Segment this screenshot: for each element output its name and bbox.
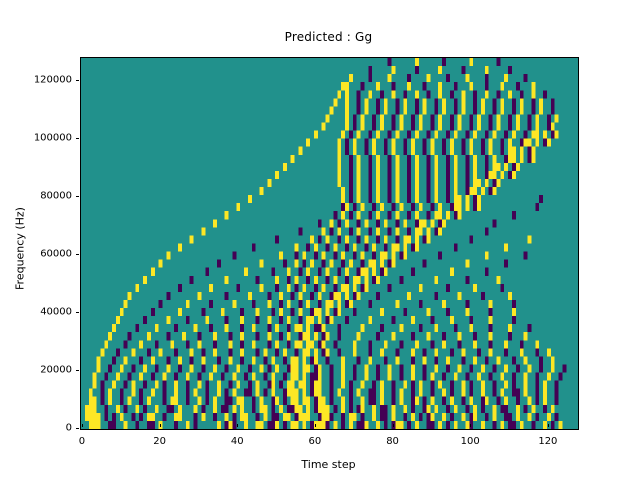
y-tick-label: 120000 (34, 75, 72, 86)
x-tick-label: 100 (461, 436, 480, 447)
x-tick-mark (393, 424, 394, 428)
y-tick-mark (76, 196, 80, 197)
y-tick-mark (76, 254, 80, 255)
y-tick-mark (76, 428, 80, 429)
x-tick-mark (82, 424, 83, 428)
y-tick-mark (76, 138, 80, 139)
x-tick-label: 20 (153, 436, 166, 447)
x-tick-mark (237, 424, 238, 428)
x-tick-mark (160, 424, 161, 428)
y-tick-label: 40000 (40, 307, 72, 318)
y-tick-label: 80000 (40, 191, 72, 202)
x-tick-label: 40 (231, 436, 244, 447)
x-tick-label: 120 (538, 436, 557, 447)
y-tick-mark (76, 312, 80, 313)
y-axis-label: Frequency (Hz) (14, 149, 27, 349)
figure-canvas: Predicted : Gg 0200004000060000800001000… (0, 0, 640, 480)
heatmap-image (81, 58, 578, 429)
x-tick-mark (315, 424, 316, 428)
x-tick-mark (548, 424, 549, 428)
x-tick-mark (470, 424, 471, 428)
x-axis-label: Time step (80, 458, 577, 471)
y-tick-label: 100000 (34, 133, 72, 144)
x-tick-label: 80 (386, 436, 399, 447)
y-tick-mark (76, 80, 80, 81)
y-tick-mark (76, 370, 80, 371)
x-tick-label: 0 (79, 436, 85, 447)
y-tick-label: 20000 (40, 365, 72, 376)
y-tick-label: 60000 (40, 249, 72, 260)
page-title: Predicted : Gg (80, 30, 577, 44)
heatmap-axes (80, 57, 579, 430)
y-tick-label: 0 (66, 423, 72, 434)
x-tick-label: 60 (309, 436, 322, 447)
